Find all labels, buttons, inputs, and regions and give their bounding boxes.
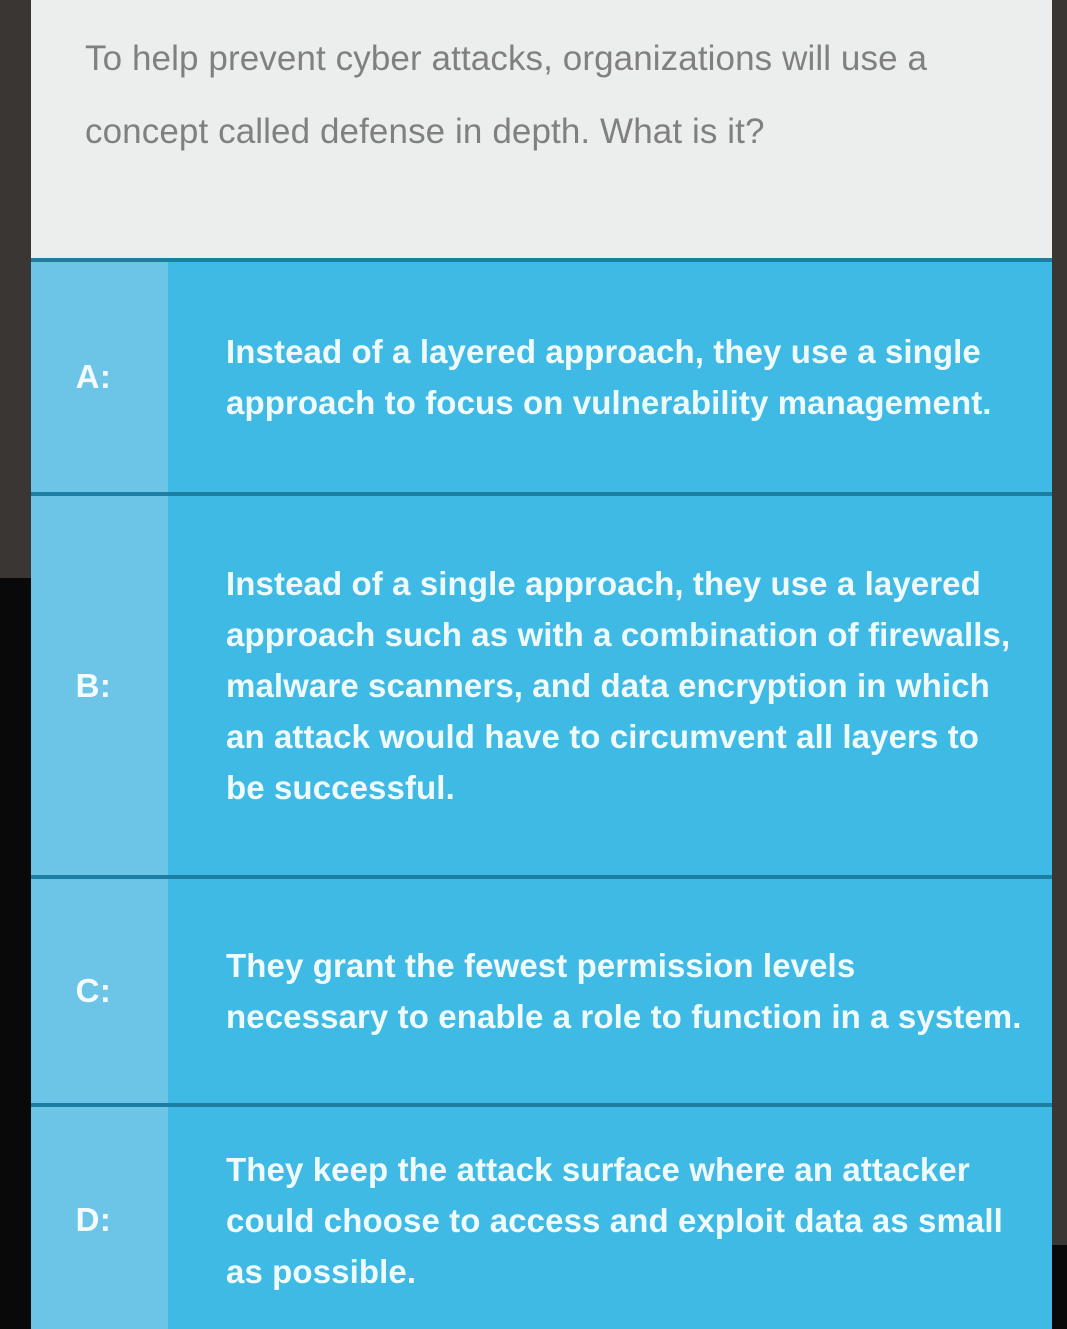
answer-letter-c: C: (76, 972, 112, 1010)
quiz-card: To help prevent cyber attacks, organizat… (31, 0, 1052, 1329)
answer-letter-cell-c: C: (31, 879, 168, 1103)
answer-text-b: Instead of a single approach, they use a… (226, 558, 1022, 813)
answer-text-c: They grant the fewest permission levels … (226, 940, 1022, 1042)
answer-letter-cell-a: A: (31, 262, 168, 492)
answer-letter-d: D: (76, 1201, 112, 1239)
question-panel: To help prevent cyber attacks, organizat… (31, 0, 1052, 258)
answer-option-a[interactable]: A: Instead of a layered approach, they u… (31, 258, 1052, 492)
question-text: To help prevent cyber attacks, organizat… (85, 22, 1012, 168)
answer-text-cell-d: They keep the attack surface where an at… (168, 1107, 1052, 1329)
answer-text-cell-a: Instead of a layered approach, they use … (168, 262, 1052, 492)
answer-letter-a: A: (76, 358, 112, 396)
answer-text-d: They keep the attack surface where an at… (226, 1144, 1022, 1297)
answer-option-d[interactable]: D: They keep the attack surface where an… (31, 1103, 1052, 1329)
answer-letter-cell-d: D: (31, 1107, 168, 1329)
answer-text-cell-b: Instead of a single approach, they use a… (168, 496, 1052, 875)
answer-option-c[interactable]: C: They grant the fewest permission leve… (31, 875, 1052, 1103)
answer-letter-b: B: (76, 667, 112, 705)
answer-text-cell-c: They grant the fewest permission levels … (168, 879, 1052, 1103)
answer-letter-cell-b: B: (31, 496, 168, 875)
answer-option-b[interactable]: B: Instead of a single approach, they us… (31, 492, 1052, 875)
backdrop-right-strip (1052, 0, 1067, 1245)
answer-text-a: Instead of a layered approach, they use … (226, 326, 1022, 428)
screen: To help prevent cyber attacks, organizat… (0, 0, 1067, 1329)
